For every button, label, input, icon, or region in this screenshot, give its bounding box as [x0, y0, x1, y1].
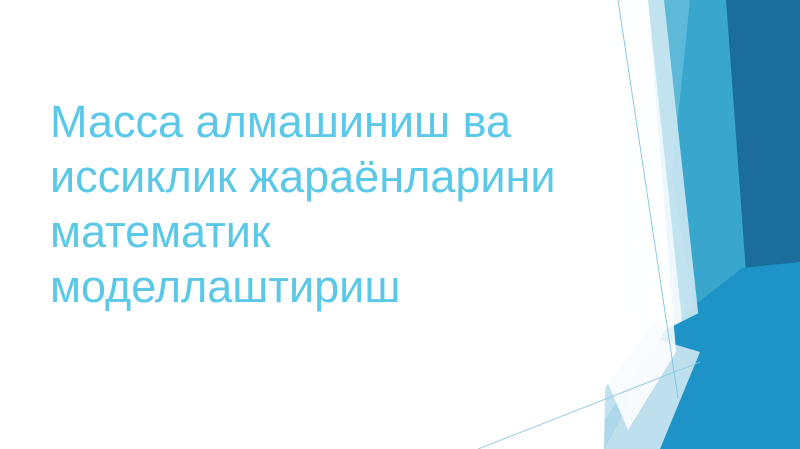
decor-shape-pale-blue: [612, 0, 700, 400]
presentation-slide: Масса алмашиниш ва иссиклик жараёнларини…: [0, 0, 800, 449]
decor-hairline-diagonal: [478, 362, 700, 449]
title-line-2: иссиклик жараёнларини: [50, 149, 610, 204]
decor-shape-bright-blue: [586, 262, 800, 449]
decor-shape-bright-blue-strip: [740, 290, 800, 449]
decor-shape-pale-bottom: [560, 320, 716, 449]
decor-shape-light-tint: [600, 0, 684, 420]
title-line-1: Масса алмашиниш ва: [50, 94, 610, 149]
title-line-4: моделлаштириш: [50, 259, 610, 314]
decor-shape-steel-blue: [690, 300, 800, 449]
decor-shape-sky-blue: [632, 0, 742, 330]
decor-shape-deep-blue: [708, 0, 800, 300]
decor-shape-dark-teal: [700, 0, 800, 360]
decor-shape-bottom-slant: [604, 262, 800, 449]
slide-title: Масса алмашиниш ва иссиклик жараёнларини…: [50, 94, 610, 314]
decor-shape-mid-blue: [672, 0, 748, 345]
title-line-3: математик: [50, 204, 610, 259]
decor-hairline-vertical: [618, 0, 678, 398]
decor-shape-pale-overlay: [604, 340, 700, 449]
